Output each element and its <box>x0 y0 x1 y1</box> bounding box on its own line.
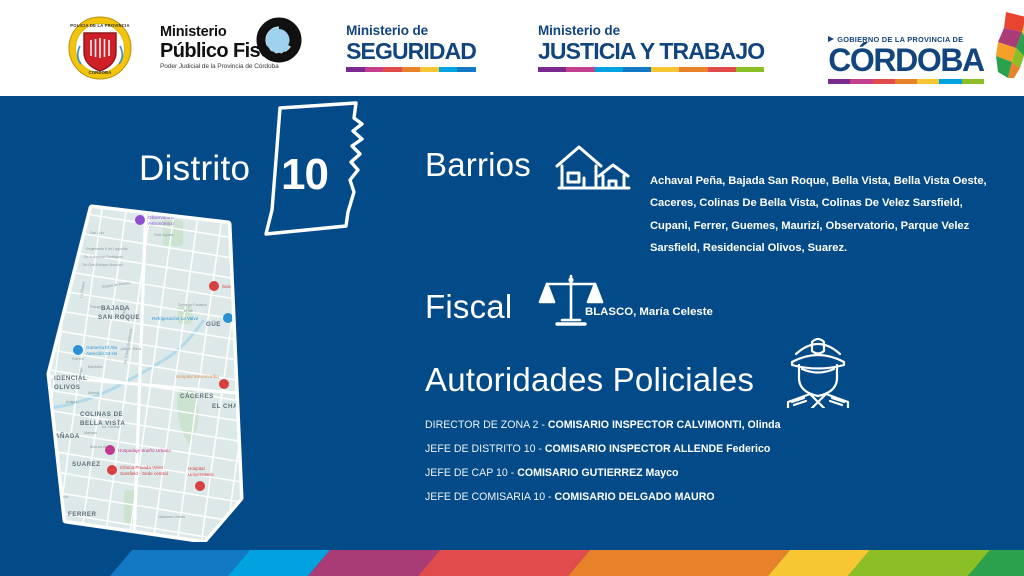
infographic-slide: POLICIA DE LA PROVINCIA CORDOBA Minister… <box>0 0 1024 576</box>
police-officer-icon <box>782 332 854 413</box>
svg-text:Atención 24 Hs: Atención 24 Hs <box>86 351 118 356</box>
ministerio-de-seguridad-logo: Ministerio de SEGURIDAD <box>346 24 476 72</box>
logo-row: POLICIA DE LA PROVINCIA CORDOBA Minister… <box>0 10 1024 86</box>
autoridad-person: COMISARIO INSPECTOR CALVIMONTI, Olinda <box>548 419 781 431</box>
svg-text:Hospital: Hospital <box>188 466 205 471</box>
svg-text:Mariano: Mariano <box>84 431 97 435</box>
autoridad-row: DIRECTOR DE ZONA 2 - COMISARIO INSPECTOR… <box>425 420 865 431</box>
svg-text:Pasaje: Pasaje <box>90 305 101 309</box>
svg-text:Roberto La Piedad: Roberto La Piedad <box>68 535 98 539</box>
ministerio-publico-fiscal-logo: Ministerio Público Fiscal Poder Judicial… <box>160 25 302 70</box>
justicia-color-stripe <box>538 67 764 72</box>
svg-text:Bambeta: Bambeta <box>88 365 102 369</box>
autoridad-role: JEFE DE COMISARIA 10 - <box>425 491 555 503</box>
svg-text:FERRER: FERRER <box>68 511 96 518</box>
svg-text:Dr. J. Antonio Rodríguez: Dr. J. Antonio Rodríguez <box>84 255 123 259</box>
ministerio-de-justicia-y-trabajo-logo: Ministerio de JUSTICIA Y TRABAJO <box>538 24 764 72</box>
autoridades-section: Autoridades Policiales <box>425 363 754 396</box>
autoridad-row: JEFE DE DISTRITO 10 - COMISARIO INSPECTO… <box>425 444 865 455</box>
seguridad-color-stripe <box>346 67 476 72</box>
autoridad-role: JEFE DE DISTRITO 10 - <box>425 443 545 455</box>
cordoba-line2: CÓRDOBA <box>828 44 984 76</box>
district-label: Distrito <box>139 149 250 189</box>
svg-text:SAN ROQUE: SAN ROQUE <box>98 314 140 321</box>
svg-text:Clínica Privada Velez: Clínica Privada Velez <box>120 465 164 470</box>
justicia-line2: JUSTICIA Y TRABAJO <box>538 40 764 63</box>
scales-of-justice-icon <box>538 272 604 333</box>
houses-icon <box>553 142 633 199</box>
svg-text:IDENCIAL: IDENCIAL <box>54 375 87 382</box>
svg-text:Astronómico: Astronómico <box>148 221 174 226</box>
svg-text:Julio A. Roca: Julio A. Roca <box>120 347 141 351</box>
autoridad-person: COMISARIO GUTIERREZ Mayco <box>517 467 678 479</box>
bottom-color-bar <box>0 542 1024 576</box>
district-number: 10 <box>281 150 328 200</box>
svg-text:OLIVOS: OLIVOS <box>54 384 80 391</box>
header-logo-bar: POLICIA DE LA PROVINCIA CORDOBA Minister… <box>0 0 1024 96</box>
svg-text:Felix Aguilar: Felix Aguilar <box>154 233 174 237</box>
svg-text:Alberdi: Alberdi <box>88 391 99 395</box>
svg-text:Gomería El Ala: Gomería El Ala <box>86 345 117 350</box>
svg-text:CÁCERES: CÁCERES <box>180 393 214 400</box>
svg-text:Artigas: Artigas <box>66 400 77 404</box>
autoridades-title: Autoridades Policiales <box>425 363 754 396</box>
autoridad-person: COMISARIO DELGADO MAURO <box>555 491 715 503</box>
cordoba-color-stripe <box>828 79 984 84</box>
svg-text:Sarsfield - Sede central: Sarsfield - Sede central <box>120 471 168 476</box>
svg-text:Regimiento 8 de Lagunilla: Regimiento 8 de Lagunilla <box>86 247 128 251</box>
svg-text:Refrigeración La Valve: Refrigeración La Valve <box>152 316 199 321</box>
autoridad-role: JEFE DE CAP 10 - <box>425 467 517 479</box>
barrios-list: Achaval Peña, Bajada San Roque, Bella Vi… <box>650 170 998 260</box>
autoridad-role: DIRECTOR DE ZONA 2 - <box>425 419 548 431</box>
gobierno-provincia-cordoba-logo: GOBIERNO DE LA PROVINCIA DE CÓRDOBA <box>828 12 1024 84</box>
seguridad-line2: SEGURIDAD <box>346 40 476 63</box>
svg-text:SUAREZ: SUAREZ <box>72 461 100 468</box>
barrios-title: Barrios <box>425 148 531 181</box>
svg-text:Av. Central: Av. Central <box>102 425 120 429</box>
badge-bottom-text: CORDOBA <box>62 70 138 75</box>
autoridad-row: JEFE DE COMISARIA 10 - COMISARIO DELGADO… <box>425 492 865 503</box>
cordoba-province-shape-icon <box>986 12 1024 80</box>
justicia-line1: Ministerio de <box>538 24 764 38</box>
fiscal-name: BLASCO, María Celeste <box>585 306 713 318</box>
barrios-section: Barrios <box>425 148 633 199</box>
svg-text:San Luis: San Luis <box>90 231 104 235</box>
mpf-ring-icon <box>256 17 302 63</box>
svg-text:Hospital Misericordia: Hospital Misericordia <box>176 374 219 379</box>
district-street-map: BAJADA SAN ROQUE IDENCIAL OLIVOS COLINAS… <box>28 198 258 548</box>
badge-top-text: POLICIA DE LA PROVINCIA <box>62 23 138 28</box>
fiscal-section: Fiscal <box>425 280 604 333</box>
autoridad-person: COMISARIO INSPECTOR ALLENDE Federico <box>545 443 770 455</box>
mpf-line3: Poder Judicial de la Provincia de Córdob… <box>160 64 286 71</box>
svg-text:UR: UR <box>42 523 52 530</box>
seguridad-line1: Ministerio de <box>346 24 476 38</box>
fiscal-title: Fiscal <box>425 290 512 323</box>
svg-text:GÜE: GÜE <box>206 321 221 328</box>
svg-text:Hospedaje Sueño Urbano: Hospedaje Sueño Urbano <box>118 448 171 453</box>
svg-text:Naciones Unidas: Naciones Unidas <box>158 515 185 519</box>
autoridades-list: DIRECTOR DE ZONA 2 - COMISARIO INSPECTOR… <box>425 420 865 516</box>
svg-text:COLINAS DE: COLINAS DE <box>80 411 123 418</box>
svg-text:Domingo Faustino: Domingo Faustino <box>178 303 207 307</box>
policia-provincia-cordoba-badge: POLICIA DE LA PROVINCIA CORDOBA <box>62 10 138 86</box>
svg-text:Tte.Gral.Enrique Mosconi: Tte.Gral.Enrique Mosconi <box>82 263 123 267</box>
svg-text:Universitario: Universitario <box>188 472 214 477</box>
svg-text:Brasil: Brasil <box>184 309 193 313</box>
autoridad-row: JEFE DE CAP 10 - COMISARIO GUTIERREZ May… <box>425 468 865 479</box>
svg-text:Potrero: Potrero <box>72 357 84 361</box>
